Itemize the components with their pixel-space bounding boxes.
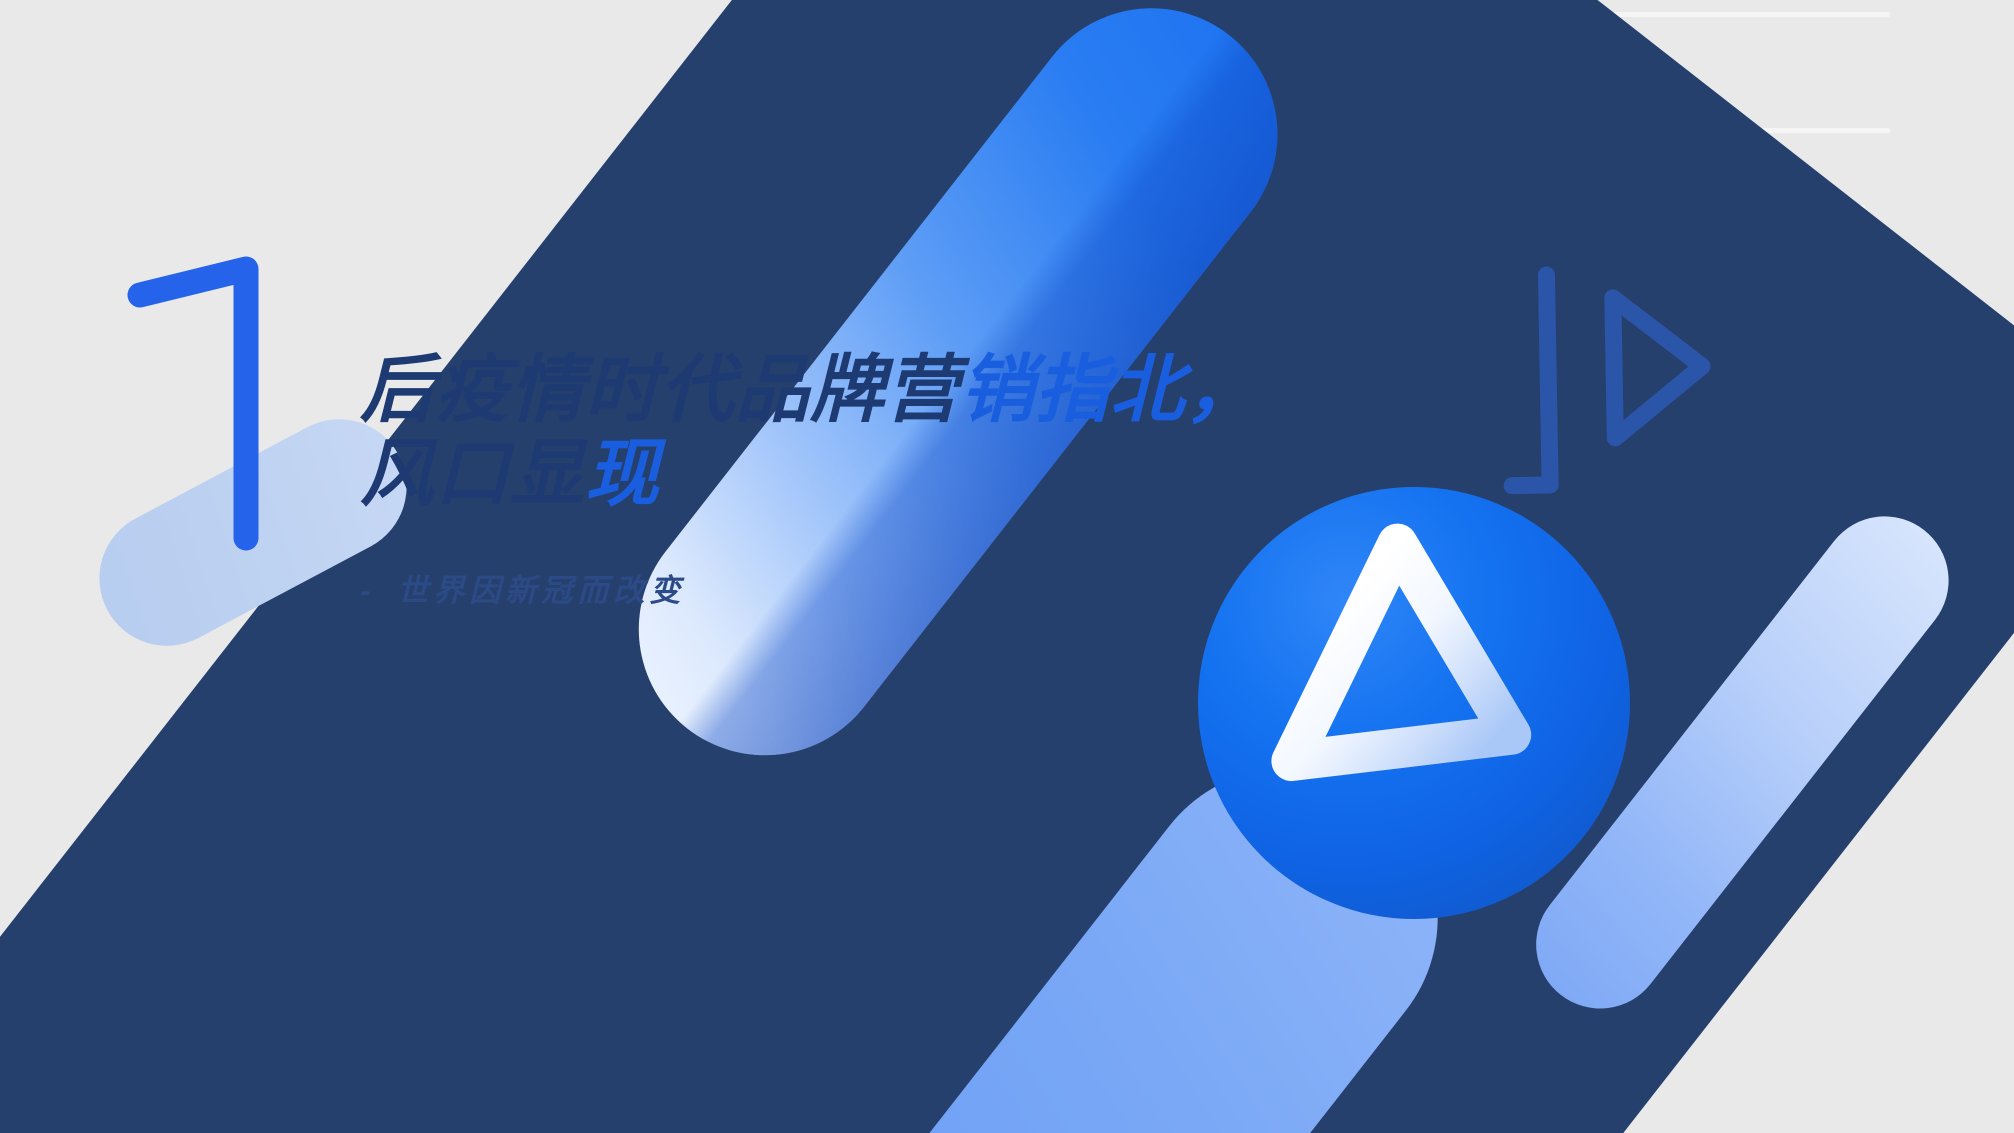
headline-line1-accent: 销指北 [960,348,1185,431]
headline-line-2: 风口显现 [360,432,1460,516]
headline-line2-accent: 现 [585,432,660,515]
section-numeral [60,255,400,675]
headline-line2-dark: 风口显 [360,432,585,515]
title-block: 后疫情时代品牌营销指北， 风口显现 -世界因新冠而改变 [360,348,1460,610]
page-title: 后疫情时代品牌营销指北， 风口显现 [360,348,1460,517]
slide-root: 后疫情时代品牌营销指北， 风口显现 -世界因新冠而改变 [0,0,2014,1133]
subtitle-text: 世界因新冠而改变 [397,573,685,608]
page-subtitle: -世界因新冠而改变 [360,565,1460,610]
numeral-one-icon [118,255,368,555]
headline-line1-dark: 后疫情时代品牌营 [360,348,960,431]
headline-line-1: 后疫情时代品牌营销指北， [360,348,1460,432]
subtitle-dash: - [360,573,375,609]
headline-line1-punct: ， [1185,348,1260,431]
